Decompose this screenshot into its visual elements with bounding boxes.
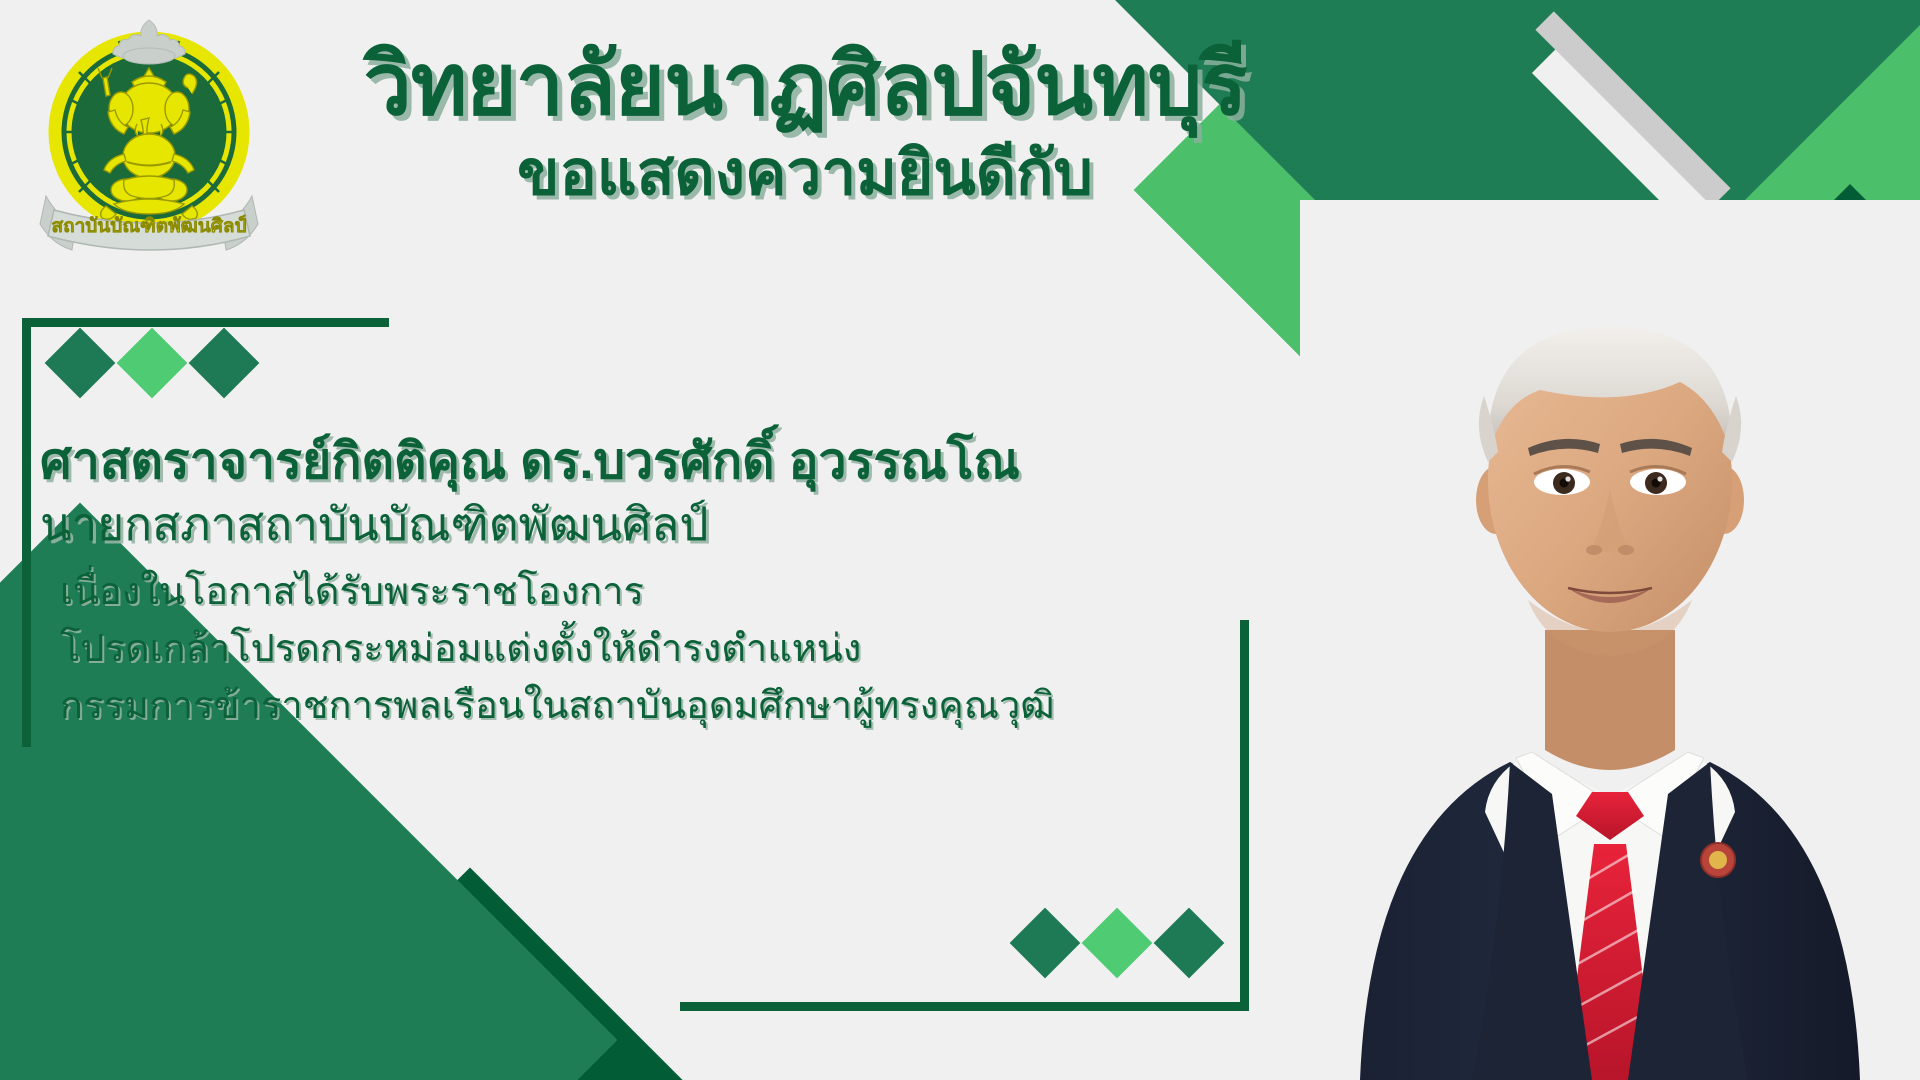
diamond-row-bottom xyxy=(1020,918,1214,968)
logo-caption-text: สถาบันบัณฑิตพัฒนศิลป์ xyxy=(51,215,246,237)
diamond-icon xyxy=(1154,908,1225,979)
portrait-photo xyxy=(1300,200,1920,1080)
occasion-line-2: โปรดเกล้าโปรดกระหม่อมแต่งตั้งให้ดำรงตำแห… xyxy=(60,621,1220,678)
ganesha-seal-icon: สถาบันบัณฑิตพัฒนศิลป์ xyxy=(24,14,274,264)
diamond-icon xyxy=(1082,908,1153,979)
institution-title: วิทยาลัยนาฏศิลปจันทบุรี xyxy=(300,42,1310,130)
occasion-line-3: กรรมการข้าราชการพลเรือนในสถาบันอุดมศึกษา… xyxy=(60,678,1220,735)
occasion-block: เนื่องในโอกาสได้รับพระราชโองการ โปรดเกล้… xyxy=(40,564,1220,735)
diamond-icon xyxy=(45,328,116,399)
honoree-name: ศาสตราจารย์กิตติคุณ ดร.บวรศักดิ์ อุวรรณโ… xyxy=(40,430,1220,493)
diamond-icon xyxy=(189,328,260,399)
congratulation-banner: สถาบันบัณฑิตพัฒนศิลป์ วิทยาลัยนาฏศิลปจัน… xyxy=(0,0,1920,1080)
corner-decoration-bottom-left-light xyxy=(0,705,675,1080)
honoree-block: ศาสตราจารย์กิตติคุณ ดร.บวรศักดิ์ อุวรรณโ… xyxy=(40,430,1220,735)
congratulation-subtitle: ขอแสดงความยินดีกับ xyxy=(300,138,1310,209)
heading-block: วิทยาลัยนาฏศิลปจันทบุรี ขอแสดงความยินดีก… xyxy=(300,42,1310,209)
diamond-row-top xyxy=(55,338,249,388)
honoree-position: นายกสภาสถาบันบัณฑิตพัฒนศิลป์ xyxy=(40,495,1220,555)
diamond-icon xyxy=(1010,908,1081,979)
honoree-portrait xyxy=(1300,200,1920,1080)
diamond-icon xyxy=(117,328,188,399)
occasion-line-1: เนื่องในโอกาสได้รับพระราชโองการ xyxy=(60,564,1220,621)
institute-logo: สถาบันบัณฑิตพัฒนศิลป์ xyxy=(24,14,274,264)
corner-decoration-top-right-stripe xyxy=(1535,11,1730,206)
